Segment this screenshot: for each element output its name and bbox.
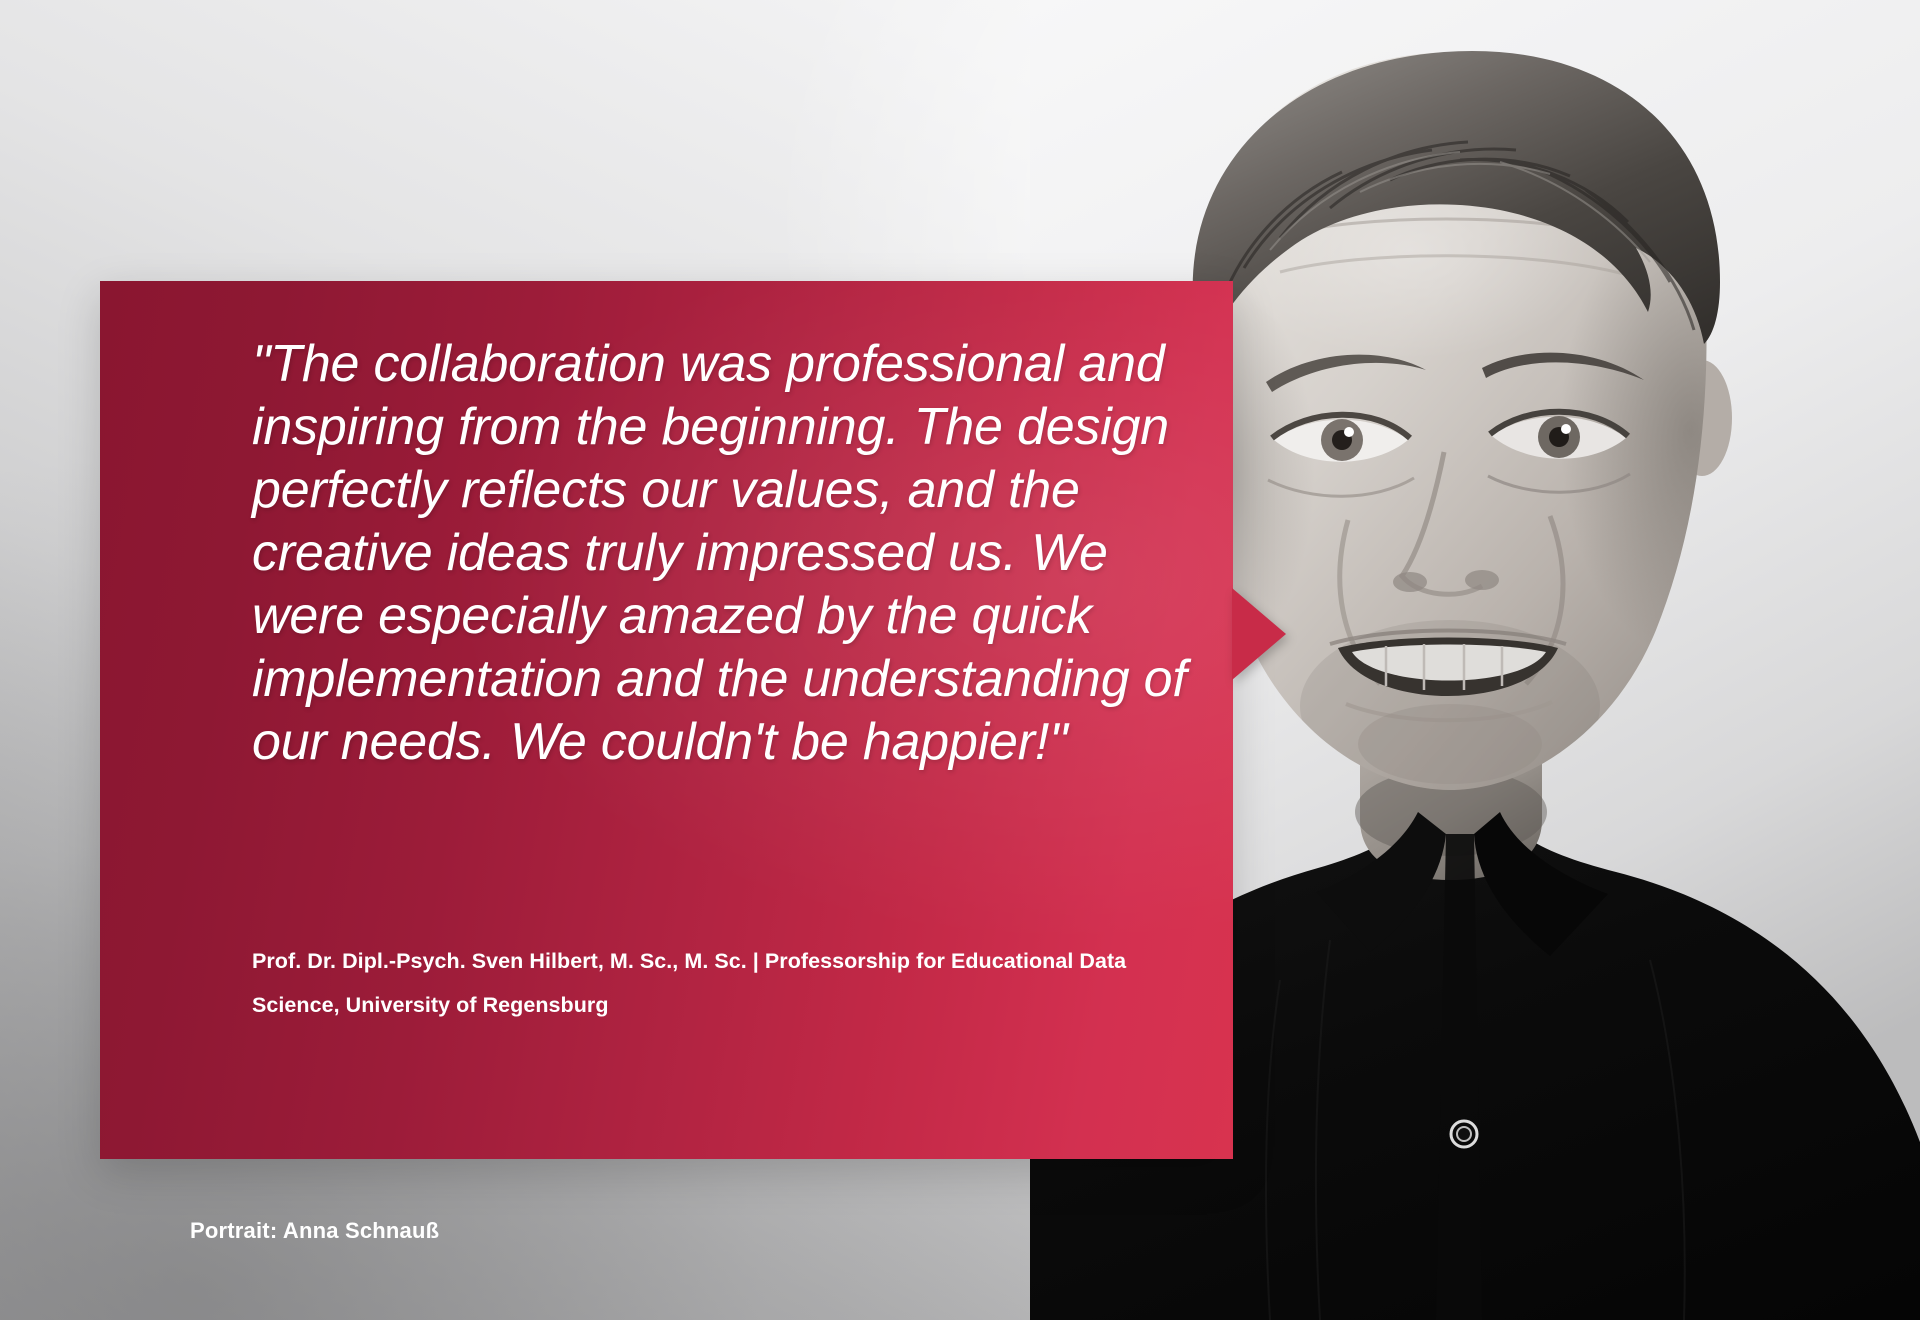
quote-attribution: Prof. Dr. Dipl.-Psych. Sven Hilbert, M. …	[252, 939, 1132, 1027]
quote-text: "The collaboration was professional and …	[252, 333, 1212, 774]
testimonial-card-image: "The collaboration was professional and …	[0, 0, 1920, 1320]
quote-card: "The collaboration was professional and …	[100, 281, 1233, 1159]
quote-card-pointer-arrow	[1232, 588, 1286, 680]
photo-credit: Portrait: Anna Schnauß	[190, 1218, 439, 1244]
